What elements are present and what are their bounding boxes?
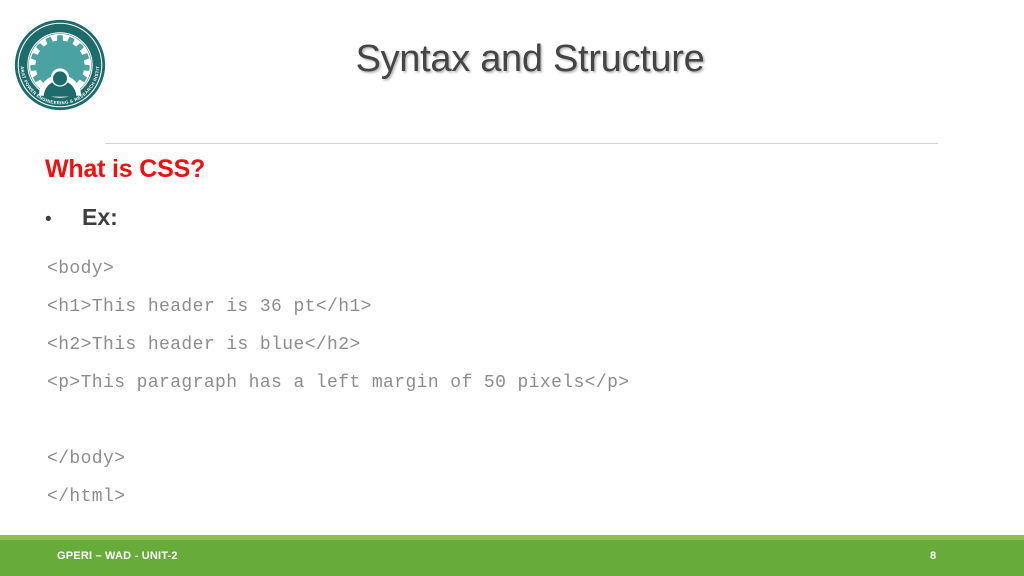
bullet-dot-icon: • <box>45 210 67 229</box>
slide-footer: GPERI – WAD - UNIT-2 8 <box>0 535 1024 576</box>
code-line: </body> <box>47 440 947 478</box>
footer-course-label: GPERI – WAD - UNIT-2 <box>57 550 178 562</box>
code-line: <body> <box>47 250 947 288</box>
section-heading: What is CSS? <box>45 155 205 184</box>
code-block: <body> <h1>This header is 36 pt</h1> <h2… <box>47 250 947 516</box>
code-line-blank <box>47 402 947 440</box>
bullet-item-label: Ex: <box>82 204 118 231</box>
code-line: <h1>This header is 36 pt</h1> <box>47 288 947 326</box>
bullet-list-item: • Ex: <box>45 204 118 231</box>
code-line: <p>This paragraph has a left margin of 5… <box>47 364 947 402</box>
gperi-emblem-icon: GUJARAT POWER ENGINEERING & RESEARCH INS… <box>12 17 108 113</box>
page-title: Syntax and Structure <box>120 38 940 81</box>
code-line: <h2>This header is blue</h2> <box>47 326 947 364</box>
slide-canvas: GUJARAT POWER ENGINEERING & RESEARCH INS… <box>0 0 1024 576</box>
footer-page-number: 8 <box>925 550 941 562</box>
code-line: </html> <box>47 478 947 516</box>
title-divider <box>105 143 938 144</box>
institute-logo: GUJARAT POWER ENGINEERING & RESEARCH INS… <box>12 17 108 113</box>
